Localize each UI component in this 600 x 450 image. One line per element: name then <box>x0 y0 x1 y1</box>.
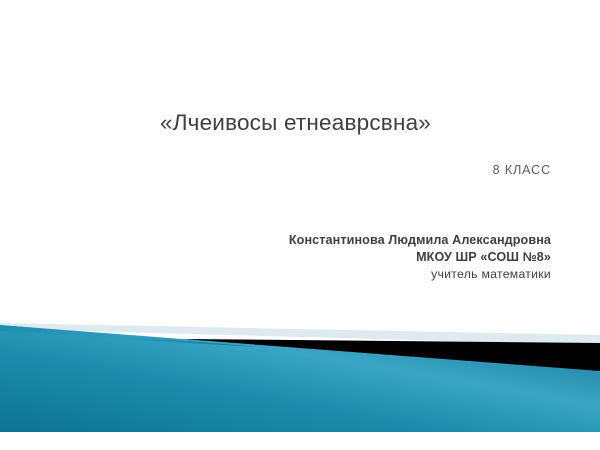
teal-band-shape <box>0 325 600 432</box>
angled-banner-svg <box>0 295 600 450</box>
black-wedge-shape <box>185 339 600 373</box>
pale-sliver-shape <box>0 323 600 345</box>
slide-subtitle: 8 КЛАСС <box>40 163 551 178</box>
angled-banner-decoration <box>0 295 600 450</box>
author-role: учитель математики <box>40 266 551 282</box>
page-title: «Лчеивосы етнеаврсвна» <box>40 110 551 136</box>
author-school: МКОУ ШР «СОШ №8» <box>40 249 551 266</box>
slide-canvas: «Лчеивосы етнеаврсвна» 8 КЛАСС Константи… <box>0 0 600 450</box>
author-name: Константинова Людмила Александровна <box>40 232 551 249</box>
teal-upper-lobe-shape <box>0 325 260 347</box>
author-block: Константинова Людмила Александровна МКОУ… <box>40 232 551 282</box>
